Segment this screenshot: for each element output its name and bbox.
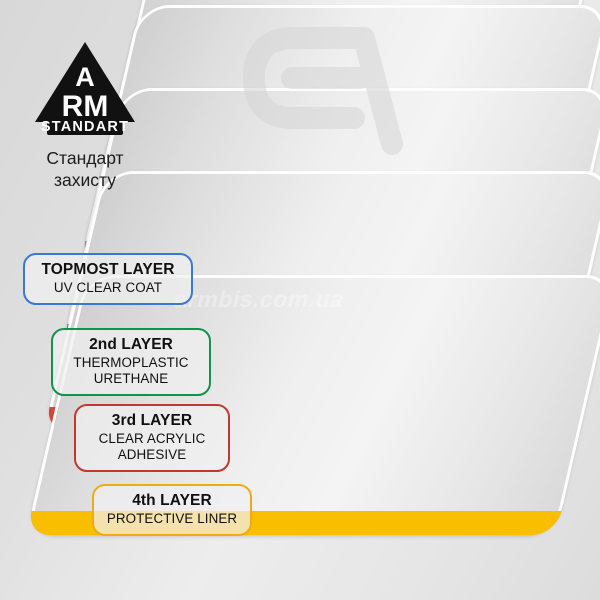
callout-3rd-layer[interactable]: 3rd LAYER CLEAR ACRYLIC ADHESIVE (74, 404, 230, 472)
callout-subtitle: UV CLEAR COAT (35, 280, 181, 296)
callout-subtitle-2: URETHANE (63, 371, 199, 387)
callout-topmost-layer[interactable]: TOPMOST LAYER UV CLEAR COAT (23, 253, 193, 305)
svg-text:A: A (75, 62, 95, 92)
layer-diagram-canvas: armbis.com.ua A RM STANDART Стандарт зах… (0, 0, 600, 600)
callout-subtitle: PROTECTIVE LINER (104, 511, 240, 527)
brand-block: A RM STANDART Стандарт захисту (20, 38, 150, 192)
callout-title: TOPMOST LAYER (35, 261, 181, 280)
callout-2nd-layer[interactable]: 2nd LAYER THERMOPLASTIC URETHANE (51, 328, 211, 396)
svg-text:STANDART: STANDART (41, 119, 129, 135)
callout-4th-layer[interactable]: 4th LAYER PROTECTIVE LINER (92, 484, 252, 536)
callout-subtitle-2: ADHESIVE (86, 447, 218, 463)
callout-title: 2nd LAYER (63, 336, 199, 355)
callout-subtitle: CLEAR ACRYLIC (86, 431, 218, 447)
brand-tagline-line1: Стандарт (20, 147, 150, 169)
brand-tagline: Стандарт захисту (20, 147, 150, 192)
arm-standart-logo: A RM STANDART (31, 38, 139, 138)
callout-title: 3rd LAYER (86, 412, 218, 431)
callout-title: 4th LAYER (104, 492, 240, 511)
callout-subtitle: THERMOPLASTIC (63, 355, 199, 371)
brand-tagline-line2: захисту (20, 169, 150, 191)
